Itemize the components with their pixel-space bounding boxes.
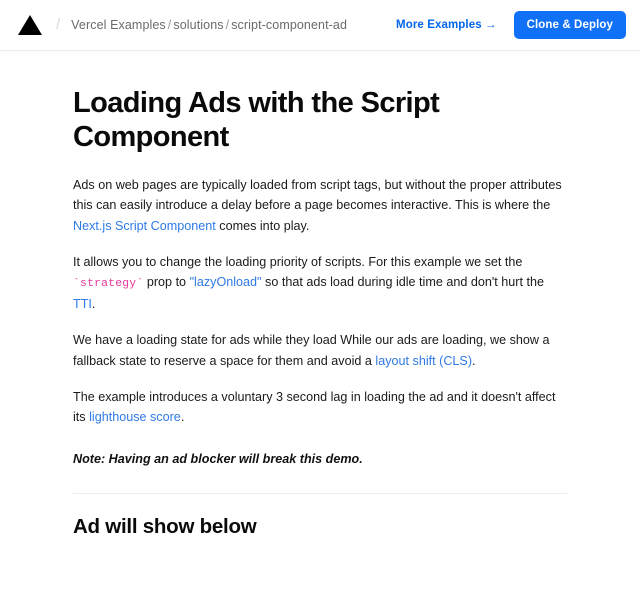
lazyonload-string-token: "lazyOnload": [190, 275, 262, 289]
paragraph-intro-text-b: comes into play.: [216, 219, 310, 233]
tti-link[interactable]: TTI: [73, 297, 92, 311]
layout-shift-cls-link[interactable]: layout shift (CLS): [375, 354, 472, 368]
paragraph-strategy-text-b: prop to: [143, 275, 189, 289]
next-js-script-component-link[interactable]: Next.js Script Component: [73, 219, 216, 233]
paragraph-strategy-text-c: so that ads load during idle time and do…: [262, 275, 544, 289]
breadcrumb-leading-slash: /: [56, 16, 60, 33]
paragraph-loading-state-text-b: .: [472, 354, 476, 368]
paragraph-strategy: It allows you to change the loading prio…: [73, 252, 567, 314]
paragraph-strategy-text-a: It allows you to change the loading prio…: [73, 255, 522, 269]
strategy-code-token: `strategy`: [73, 278, 143, 290]
lighthouse-score-link[interactable]: lighthouse score: [89, 410, 181, 424]
ad-placeholder-slot: [73, 539, 567, 599]
ad-section-title: Ad will show below: [73, 515, 567, 539]
clone-and-deploy-button[interactable]: Clone & Deploy: [514, 11, 626, 39]
paragraph-intro: Ads on web pages are typically loaded fr…: [73, 175, 567, 236]
breadcrumb-item-solutions[interactable]: solutions: [173, 18, 223, 32]
site-header: / Vercel Examples/solutions/script-compo…: [0, 0, 640, 51]
paragraph-strategy-text-d: .: [92, 297, 96, 311]
more-examples-link[interactable]: More Examples →: [396, 19, 497, 31]
main-content: Loading Ads with the Script Component Ad…: [0, 51, 640, 599]
breadcrumb-item-root[interactable]: Vercel Examples: [71, 18, 166, 32]
ad-blocker-note: Note: Having an ad blocker will break th…: [73, 449, 567, 469]
paragraph-loading-state-text-a: We have a loading state for ads while th…: [73, 333, 550, 367]
paragraph-lighthouse: The example introduces a voluntary 3 sec…: [73, 387, 567, 428]
paragraph-lighthouse-text-b: .: [181, 410, 185, 424]
section-divider: [73, 493, 567, 494]
page-title: Loading Ads with the Script Component: [73, 87, 463, 155]
paragraph-loading-state: We have a loading state for ads while th…: [73, 330, 567, 371]
header-actions: More Examples → Clone & Deploy: [396, 11, 626, 39]
breadcrumb-item-page[interactable]: script-component-ad: [231, 18, 347, 32]
paragraph-intro-text-a: Ads on web pages are typically loaded fr…: [73, 178, 562, 212]
vercel-triangle-icon[interactable]: [18, 15, 42, 35]
breadcrumb: Vercel Examples/solutions/script-compone…: [71, 18, 347, 32]
